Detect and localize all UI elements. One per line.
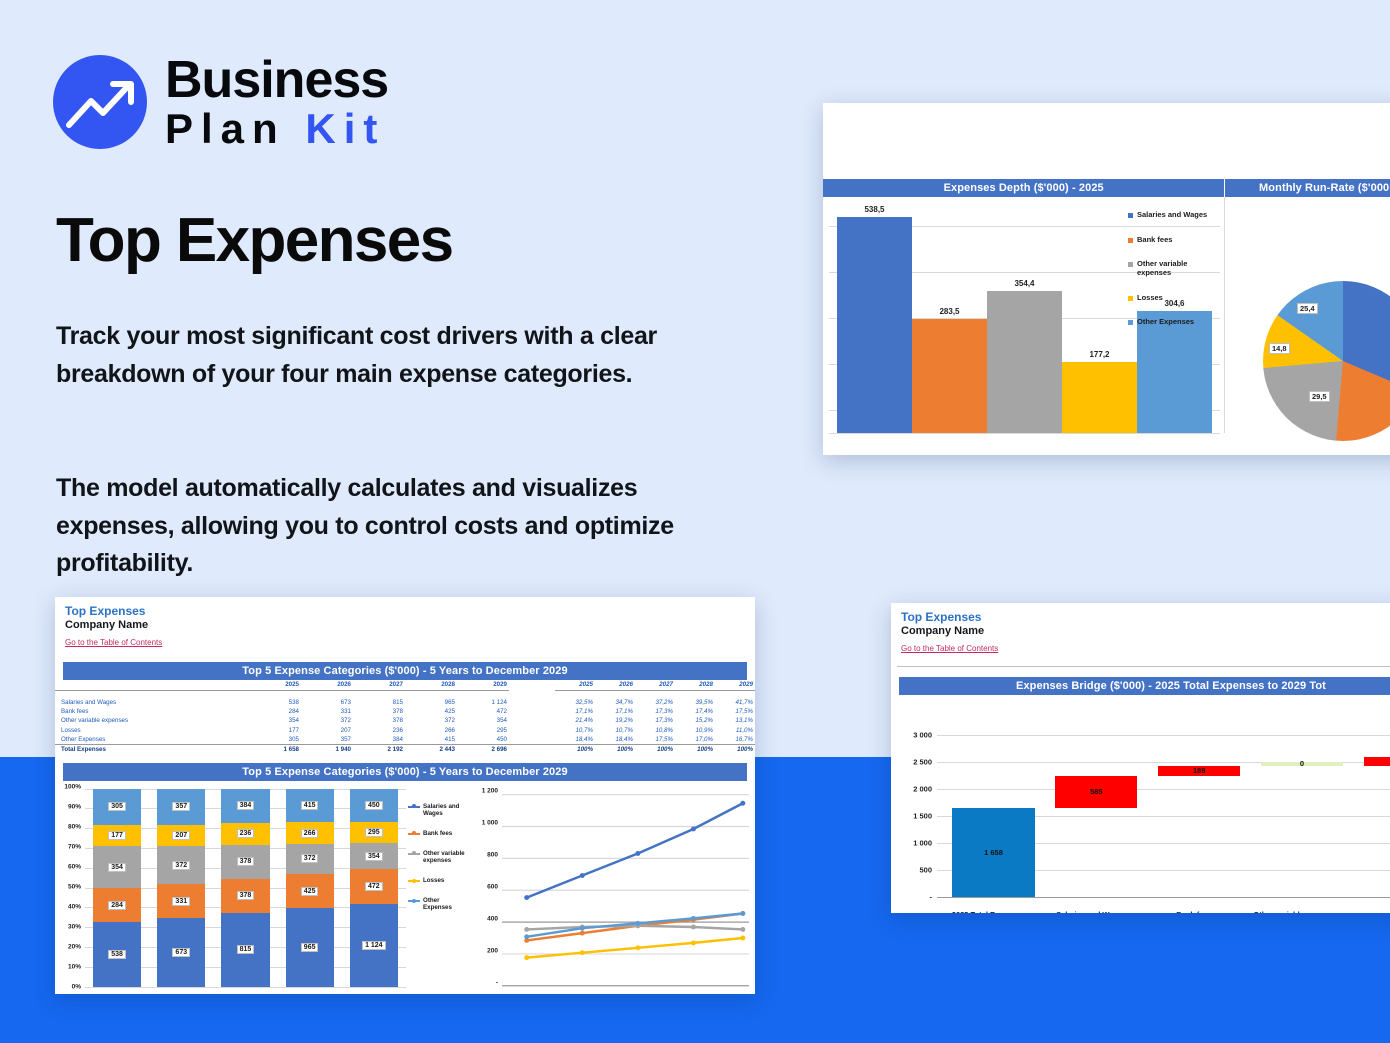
cell: 17,5% [715, 707, 755, 716]
row-label: Other variable expenses [55, 716, 249, 725]
seg-label: 295 [365, 828, 383, 837]
cell: 266 [405, 726, 457, 735]
y-tick: 400 [487, 915, 498, 922]
legend-item[interactable]: Bank fees [408, 830, 466, 837]
stacked-column-2026[interactable]: 357 207 372 331 673 [157, 789, 205, 987]
cell: 815 [353, 698, 405, 707]
stacked-column-2029[interactable]: 450 295 354 472 1 124 [350, 789, 398, 987]
stacked-expense-chart[interactable]: 100% 90% 80% 70% 60% 50% 40% 30% 20% 10%… [55, 781, 468, 994]
x-tick: Bank fees [1143, 910, 1246, 913]
cell: 17,1% [555, 707, 595, 716]
waterfall-bar-salaries[interactable]: 585 [1055, 776, 1137, 808]
table-row[interactable]: Losses 177 207 236 266 295 10,7% 10,7% 1… [55, 726, 755, 735]
seg-label: 236 [237, 829, 255, 838]
y-tick: 200 [487, 947, 498, 954]
legend-line-icon [408, 880, 420, 882]
y-tick: 20% [68, 943, 81, 950]
bar-value-label: 354,4 [987, 279, 1062, 288]
cell: 372 [405, 716, 457, 725]
bar-value-label: 177,2 [1062, 350, 1137, 359]
legend-label: Other Expenses [423, 897, 466, 911]
total-pct: 100% [715, 745, 755, 755]
total-cell: 2 443 [405, 745, 457, 755]
cell: 17,3% [635, 707, 675, 716]
cell: 41,7% [715, 698, 755, 707]
legend-line-icon [408, 833, 420, 835]
logo-word-plan: Plan [165, 105, 286, 152]
y-tick: - [496, 979, 498, 986]
bar-bank-fees[interactable]: 283,5 [912, 319, 987, 433]
y-tick: 0% [72, 983, 81, 990]
cell: 32,5% [555, 698, 595, 707]
legend-swatch-icon [1128, 296, 1133, 301]
cell: 673 [301, 698, 353, 707]
stacked-column-2028[interactable]: 415 266 372 425 965 [286, 789, 334, 987]
line-y-axis: 1 200 1 000 800 600 400 200 - [470, 787, 500, 987]
top-expenses-table-panel[interactable]: Top Expenses Company Name Go to the Tabl… [55, 597, 755, 994]
x-tick: Other variable expenses [1245, 910, 1348, 913]
axis-line [829, 433, 1220, 434]
legend-item[interactable]: Salaries and Wages [1128, 211, 1220, 220]
cell: 357 [301, 735, 353, 745]
cell: 177 [249, 726, 301, 735]
line-series-svg [502, 791, 749, 987]
cell: 331 [301, 707, 353, 716]
growth-arrow-icon [53, 55, 147, 149]
line-plot-area [502, 791, 749, 987]
seg-label: 266 [301, 829, 319, 838]
legend-label: Bank fees [1137, 236, 1172, 245]
cell: 10,8% [635, 726, 675, 735]
logo-circle-icon [53, 55, 147, 149]
seg-label: 815 [237, 945, 255, 954]
brand-logo: Business Plan Kit [53, 54, 388, 150]
seg-label: 1 124 [362, 941, 386, 950]
legend-swatch-icon [1128, 213, 1133, 218]
cell: 17,4% [675, 707, 715, 716]
y-tick: 1 000 [913, 838, 932, 847]
pctcol-2027: 2027 [635, 680, 675, 691]
y-tick: 2 500 [913, 757, 932, 766]
y-tick: 40% [68, 903, 81, 910]
header-spacer [55, 680, 249, 691]
chart-legend: Salaries and Wages Bank fees Other varia… [1128, 211, 1220, 343]
y-tick: 80% [68, 823, 81, 830]
logo-word-kit: Kit [305, 105, 385, 152]
seg-label: 425 [301, 887, 319, 896]
waterfall-plot-area: 1 658 585 189 0 1 [937, 735, 1390, 897]
total-cell: 2 696 [457, 745, 509, 755]
pie-label-other-variable: 29,5 [1309, 391, 1330, 402]
expenses-table: 2025 2026 2027 2028 2029 2025 2026 2027 … [55, 680, 755, 755]
bar-salaries[interactable]: 538,5 [837, 217, 912, 433]
cell: 37,2% [635, 698, 675, 707]
pie-label-losses: 14,8 [1269, 343, 1290, 354]
cell: 19,2% [595, 716, 635, 725]
expenses-bridge-panel[interactable]: Top Expenses Company Name Go to the Tabl… [891, 603, 1390, 913]
expenses-depth-chart[interactable]: 538,5 283,5 354,4 177,2 [823, 197, 1225, 433]
cell: 10,7% [555, 726, 595, 735]
legend-label: Salaries and Wages [423, 803, 466, 817]
stacked-y-axis: 100% 90% 80% 70% 60% 50% 40% 30% 20% 10%… [57, 787, 83, 987]
chart-title-bar: Top 5 Expense Categories ($'000) - 5 Yea… [63, 763, 747, 781]
waterfall-x-axis: 2025 Total Expenses Salaries and Wages B… [937, 910, 1390, 913]
waterfall-y-axis: 3 000 2 500 2 000 1 500 1 000 500 - [891, 735, 935, 897]
y-tick: 3 000 [913, 730, 932, 739]
seg-label: 331 [172, 897, 190, 906]
seg-label: 354 [365, 852, 383, 861]
bar-value-label: 0 [1300, 759, 1304, 768]
table-row[interactable]: Other variable expenses 354 372 378 372 … [55, 716, 755, 725]
table-header-row: 2025 2026 2027 2028 2029 2025 2026 2027 … [55, 680, 755, 691]
y-tick: 60% [68, 863, 81, 870]
cell: 15,2% [675, 716, 715, 725]
cell: 21,4% [555, 716, 595, 725]
pctcol-2025: 2025 [555, 680, 595, 691]
cell: 472 [457, 707, 509, 716]
y-tick: 1 000 [482, 819, 498, 826]
legend-item[interactable]: Losses [1128, 294, 1220, 303]
total-cell: 1 658 [249, 745, 301, 755]
y-tick: 600 [487, 883, 498, 890]
seg-label: 384 [237, 801, 255, 810]
y-tick: 90% [68, 803, 81, 810]
bar-losses[interactable]: 177,2 [1062, 362, 1137, 433]
cell: 538 [249, 698, 301, 707]
legend-item[interactable]: Other variable expenses [408, 850, 466, 864]
seg-label: 284 [108, 901, 126, 910]
cell: 34,7% [595, 698, 635, 707]
legend-label: Losses [1137, 294, 1163, 303]
pie-label-other-expenses: 25,4 [1297, 303, 1318, 314]
legend-item[interactable]: Bank fees [1128, 236, 1220, 245]
row-label: Other Expenses [55, 735, 249, 745]
y-tick: 500 [919, 865, 932, 874]
x-tick: 2025 Total Expenses [937, 910, 1040, 913]
seg-label: 372 [301, 854, 319, 863]
seg-label: 415 [301, 801, 319, 810]
col-2029: 2029 [457, 680, 509, 691]
table-row[interactable]: Other Expenses 305 357 384 415 450 18,4%… [55, 735, 755, 745]
seg-label: 965 [301, 943, 319, 952]
legend-label: Other variable expenses [423, 850, 466, 864]
cell: 354 [457, 716, 509, 725]
row-label: Salaries and Wages [55, 698, 249, 707]
seg-label: 378 [237, 891, 255, 900]
legend-item[interactable]: Other variable expenses [1128, 260, 1220, 277]
bar-value-label: 538,5 [837, 205, 912, 214]
y-tick: 50% [68, 883, 81, 890]
expenses-depth-panel[interactable]: Expenses Depth ($'000) - 2025 Monthly Ru… [823, 103, 1390, 455]
cell: 305 [249, 735, 301, 745]
waterfall-bar-total-2025[interactable]: 1 658 [952, 808, 1034, 897]
seg-label: 538 [108, 950, 126, 959]
y-tick: 1 200 [482, 787, 498, 794]
legend-item[interactable]: Salaries and Wages [408, 803, 466, 817]
seg-label: 673 [172, 948, 190, 957]
cell: 13,1% [715, 716, 755, 725]
row-label: Losses [55, 726, 249, 735]
total-label: Total Expenses [55, 745, 249, 755]
cell: 10,7% [595, 726, 635, 735]
table-of-contents-link[interactable]: Go to the Table of Contents [65, 638, 162, 647]
seg-label: 177 [108, 831, 126, 840]
stacked-plot-area: 305 177 354 284 538 357 207 372 331 673 [85, 789, 406, 987]
pctcol-2028: 2028 [675, 680, 715, 691]
total-pct: 100% [635, 745, 675, 755]
cell: 295 [457, 726, 509, 735]
sheet-title: Top Expenses [901, 611, 1390, 625]
expenses-depth-title: Expenses Depth ($'000) - 2025 [823, 179, 1224, 197]
cell: 17,0% [675, 735, 715, 745]
legend-line-icon [408, 806, 420, 808]
table-row[interactable]: Salaries and Wages 538 673 815 965 1 124… [55, 698, 755, 707]
legend-label: Other Expenses [1137, 318, 1194, 327]
legend-swatch-icon [1128, 238, 1133, 243]
monthly-runrate-title: Monthly Run-Rate ($'000 [1225, 179, 1390, 197]
sheet-company-name: Company Name [901, 625, 1390, 638]
pie-plot-area [1263, 281, 1390, 441]
bar-value-label: 283,5 [912, 307, 987, 316]
legend-line-icon [408, 853, 420, 855]
y-tick: 10% [68, 963, 81, 970]
total-cell: 2 192 [353, 745, 405, 755]
y-tick: 800 [487, 851, 498, 858]
cell: 354 [249, 716, 301, 725]
cell: 11,0% [715, 726, 755, 735]
y-tick: 30% [68, 923, 81, 930]
total-pct: 100% [555, 745, 595, 755]
legend-swatch-icon [1128, 320, 1133, 325]
cell: 207 [301, 726, 353, 735]
sheet-header: Top Expenses Company Name Go to the Tabl… [55, 597, 755, 654]
seg-label: 354 [108, 863, 126, 872]
cell: 965 [405, 698, 457, 707]
seg-label: 472 [365, 882, 383, 891]
stacked-column-2025[interactable]: 305 177 354 284 538 [93, 789, 141, 987]
bridge-title-bar: Expenses Bridge ($'000) - 2025 Total Exp… [899, 677, 1390, 695]
bar-other-variable[interactable]: 354,4 [987, 291, 1062, 433]
total-cell: 1 940 [301, 745, 353, 755]
cell: 17,3% [635, 716, 675, 725]
seg-label: 357 [172, 802, 190, 811]
cell: 450 [457, 735, 509, 745]
cell: 10,9% [675, 726, 715, 735]
cell: 372 [301, 716, 353, 725]
col-2028: 2028 [405, 680, 457, 691]
stacked-series: 305 177 354 284 538 357 207 372 331 673 [85, 789, 406, 987]
waterfall-bar-bank-fees[interactable]: 189 [1158, 766, 1240, 776]
pctcol-2029: 2029 [715, 680, 755, 691]
cell: 384 [353, 735, 405, 745]
table-total-row: Total Expenses 1 658 1 940 2 192 2 443 2… [55, 745, 755, 755]
col-2027: 2027 [353, 680, 405, 691]
legend-item[interactable]: Losses [408, 877, 466, 884]
cell: 425 [405, 707, 457, 716]
cell: 17,1% [595, 707, 635, 716]
bar-value-label: 189 [1193, 766, 1206, 775]
logo-line-business: Business [165, 54, 388, 106]
stacked-column-2027[interactable]: 384 236 378 378 815 [221, 789, 269, 987]
y-tick: - [930, 892, 933, 901]
y-tick: 2 000 [913, 784, 932, 793]
panel-top-spacer [823, 103, 1390, 179]
intro-paragraph-1: Track your most significant cost drivers… [56, 318, 736, 393]
cell: 415 [405, 735, 457, 745]
seg-label: 372 [172, 861, 190, 870]
cell: 18,4% [555, 735, 595, 745]
x-tick: Salaries and Wages [1040, 910, 1143, 913]
logo-line-plankit: Plan Kit [165, 108, 388, 150]
y-tick: 100% [64, 783, 81, 790]
y-tick: 70% [68, 843, 81, 850]
cell: 16,7% [715, 735, 755, 745]
legend-line-icon [408, 900, 420, 902]
monthly-runrate-chart[interactable]: 25,4 14,8 29,5 2 [1225, 197, 1390, 433]
sheet-title: Top Expenses [65, 605, 745, 619]
legend-label: Salaries and Wages [1137, 211, 1207, 220]
cell: 378 [353, 716, 405, 725]
sheet-header: Top Expenses Company Name Go to the Tabl… [891, 603, 1390, 660]
seg-label: 305 [108, 802, 126, 811]
table-row[interactable]: Bank fees 284 331 378 425 472 17,1% 17,1… [55, 707, 755, 716]
cell: 18,4% [595, 735, 635, 745]
total-pct: 100% [675, 745, 715, 755]
expense-trend-line-chart[interactable]: 1 200 1 000 800 600 400 200 - [468, 781, 755, 994]
bar-value-label: 585 [1090, 787, 1103, 796]
waterfall-chart[interactable]: 3 000 2 500 2 000 1 500 1 000 500 - 1 65… [891, 695, 1390, 913]
seg-label: 378 [237, 857, 255, 866]
col-2025: 2025 [249, 680, 301, 691]
cell: 284 [249, 707, 301, 716]
divider [897, 666, 1390, 667]
legend-item[interactable]: Other Expenses [1128, 318, 1220, 327]
stacked-legend: Salaries and Wages Bank fees Other varia… [408, 803, 466, 925]
intro-paragraph-2: The model automatically calculates and v… [56, 470, 736, 583]
seg-label: 450 [365, 801, 383, 810]
legend-label: Other variable expenses [1137, 260, 1220, 277]
legend-label: Losses [423, 877, 444, 884]
legend-item[interactable]: Other Expenses [408, 897, 466, 911]
bar-value-label: 1 658 [984, 848, 1003, 857]
waterfall-bar-losses[interactable]: 1 [1364, 757, 1390, 765]
waterfall-bar-other-variable[interactable]: 0 [1261, 762, 1343, 766]
x-tick: Los [1348, 910, 1390, 913]
y-tick: 1 500 [913, 811, 932, 820]
table-title-bar: Top 5 Expense Categories ($'000) - 5 Yea… [63, 662, 747, 680]
legend-label: Bank fees [423, 830, 452, 837]
sheet-company-name: Company Name [65, 619, 745, 632]
total-pct: 100% [595, 745, 635, 755]
table-of-contents-link[interactable]: Go to the Table of Contents [901, 644, 998, 653]
legend-swatch-icon [1128, 262, 1133, 267]
col-2026: 2026 [301, 680, 353, 691]
seg-label: 207 [172, 831, 190, 840]
page-title: Top Expenses [56, 205, 696, 276]
cell: 1 124 [457, 698, 509, 707]
cell: 378 [353, 707, 405, 716]
cell: 236 [353, 726, 405, 735]
row-label: Bank fees [55, 707, 249, 716]
cell: 17,5% [635, 735, 675, 745]
cell: 39,5% [675, 698, 715, 707]
pctcol-2026: 2026 [595, 680, 635, 691]
